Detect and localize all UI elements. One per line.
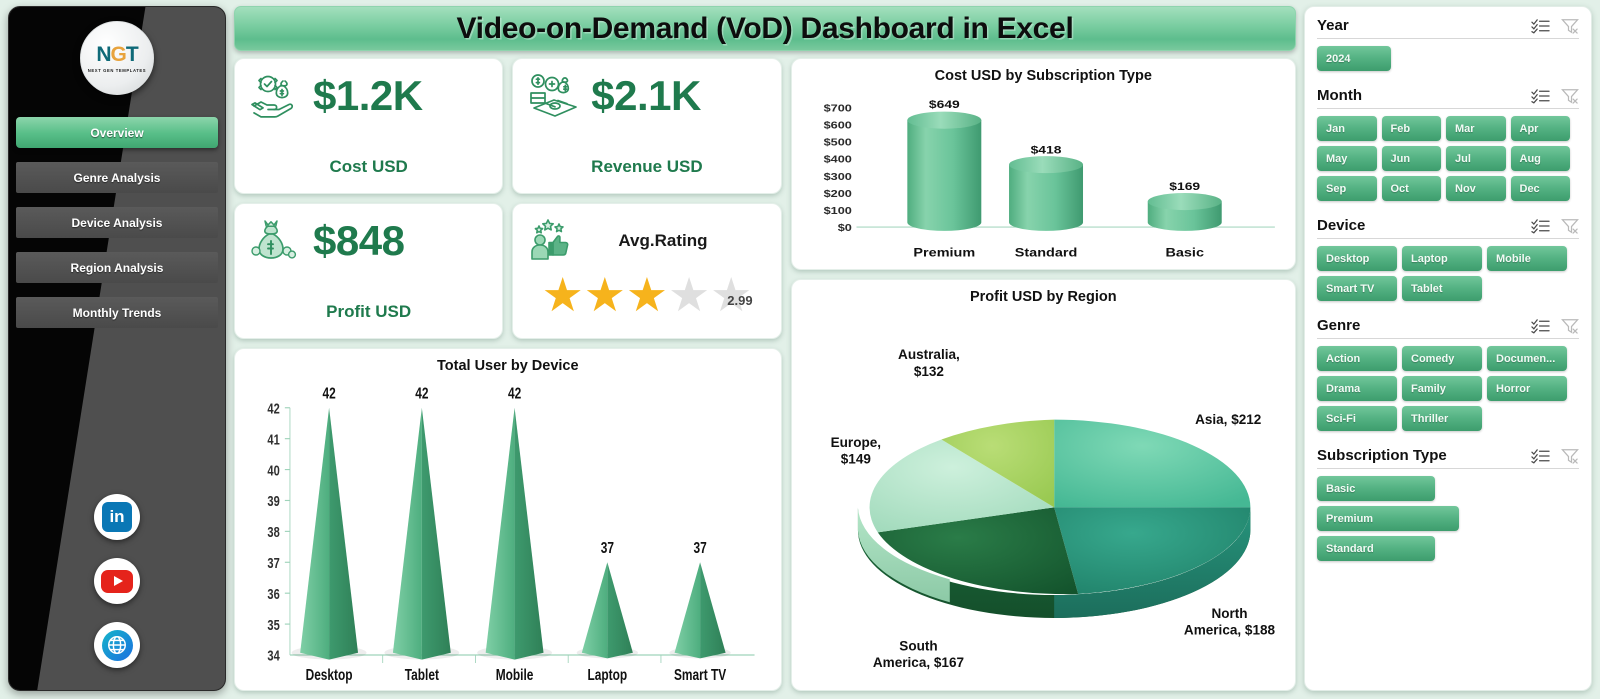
- svg-text:38: 38: [267, 524, 279, 541]
- slicer-chip-device-smart-tv[interactable]: Smart TV: [1317, 276, 1397, 301]
- svg-text:America, $167: America, $167: [872, 655, 963, 670]
- slicer-chip-year-2024[interactable]: 2024: [1317, 46, 1391, 71]
- svg-text:$400: $400: [823, 154, 851, 166]
- slicer-chip-genre-drama[interactable]: Drama: [1317, 376, 1397, 401]
- youtube-button[interactable]: [94, 558, 140, 604]
- pie-label-europe: Europe,: [830, 435, 880, 450]
- svg-text:41: 41: [267, 431, 279, 448]
- pie-label-asia: Asia, $212: [1195, 412, 1261, 427]
- pie-slice-asia: [1054, 420, 1250, 508]
- clear-filter-icon[interactable]: [1561, 318, 1579, 334]
- svg-text:35: 35: [267, 616, 279, 633]
- multi-select-icon[interactable]: [1531, 318, 1550, 334]
- slicer-title-device: Device: [1317, 217, 1531, 234]
- svg-text:Smart TV: Smart TV: [674, 666, 727, 684]
- sidebar-item-region-analysis[interactable]: Region Analysis: [16, 252, 218, 283]
- bar-label-basic: $169: [1169, 181, 1200, 194]
- slicer-chip-genre-family[interactable]: Family: [1402, 376, 1482, 401]
- slicer-chip-month-oct[interactable]: Oct: [1382, 176, 1442, 201]
- dashboard-title-banner: Video-on-Demand (VoD) Dashboard in Excel: [234, 6, 1296, 51]
- money-stack-icon: [527, 71, 581, 121]
- kpi-value-revenue: $2.1K: [591, 72, 701, 120]
- svg-text:America, $188: America, $188: [1183, 623, 1275, 638]
- money-bag-icon: [249, 216, 303, 266]
- website-button[interactable]: [94, 622, 140, 668]
- svg-text:36: 36: [267, 586, 279, 603]
- slicer-year: Year: [1317, 17, 1579, 71]
- kpi-card-cost: $1.2K Cost USD: [234, 58, 503, 194]
- svg-text:39: 39: [267, 493, 279, 510]
- main-content: Video-on-Demand (VoD) Dashboard in Excel: [234, 6, 1296, 691]
- cylinder-basic: [1147, 193, 1221, 231]
- svg-text:Desktop: Desktop: [306, 666, 353, 684]
- slicer-chip-month-dec[interactable]: Dec: [1511, 176, 1571, 201]
- clear-filter-icon[interactable]: [1561, 18, 1579, 34]
- bar-label-laptop: 37: [601, 539, 614, 557]
- svg-text:$0: $0: [837, 222, 851, 234]
- svg-text:$100: $100: [823, 205, 851, 217]
- svg-text:42: 42: [267, 400, 279, 417]
- sidebar-item-monthly-trends[interactable]: Monthly Trends: [16, 297, 218, 328]
- chart-card-cost-by-subscription: Cost USD by Subscription Type: [791, 58, 1296, 270]
- svg-text:$200: $200: [823, 188, 851, 200]
- slicer-chip-subscription-basic[interactable]: Basic: [1317, 476, 1435, 501]
- slicer-chip-subscription-standard[interactable]: Standard: [1317, 536, 1435, 561]
- slicer-chip-month-jan[interactable]: Jan: [1317, 116, 1377, 141]
- sidebar-item-label: Genre Analysis: [74, 171, 161, 185]
- user-thumbsup-stars-icon: [527, 216, 581, 266]
- pie-label-south-america: South: [899, 639, 937, 654]
- svg-text:37: 37: [267, 555, 279, 572]
- slicer-subscription-type: Subscription Type: [1317, 447, 1579, 561]
- svg-text:$300: $300: [823, 171, 851, 183]
- svg-text:Tablet: Tablet: [405, 666, 439, 684]
- chart-title-profit-by-region: Profit USD by Region: [801, 287, 1286, 309]
- svg-text:Mobile: Mobile: [496, 666, 534, 684]
- multi-select-icon[interactable]: [1531, 88, 1550, 104]
- kpi-label-revenue: Revenue USD: [527, 157, 766, 181]
- star-filled-3: ★: [626, 271, 668, 318]
- slicer-items-genre: Action Comedy Documen... Drama Family Ho…: [1317, 346, 1579, 431]
- sidebar: NGT NEXT GEN TEMPLATES Overview Genre An…: [8, 6, 226, 691]
- cylinder-standard: [1009, 156, 1083, 231]
- slicer-items-month: Jan Feb Mar Apr May Jun Jul Aug Sep Oct …: [1317, 116, 1579, 201]
- kpi-card-revenue: $2.1K Revenue USD: [512, 58, 781, 194]
- linkedin-icon: in: [102, 502, 132, 532]
- svg-text:Standard: Standard: [1014, 246, 1077, 259]
- sidebar-item-genre-analysis[interactable]: Genre Analysis: [16, 162, 218, 193]
- chart-title-cost-by-subscription: Cost USD by Subscription Type: [801, 66, 1286, 88]
- svg-text:$149: $149: [840, 452, 871, 467]
- svg-text:Basic: Basic: [1165, 246, 1204, 259]
- svg-text:$600: $600: [823, 120, 851, 132]
- kpi-label-profit: Profit USD: [249, 302, 488, 326]
- slicer-chip-month-jul[interactable]: Jul: [1446, 146, 1506, 171]
- svg-text:34: 34: [267, 647, 280, 664]
- bar-label-standard: $418: [1030, 144, 1061, 157]
- slicer-chip-genre-documentary[interactable]: Documen...: [1487, 346, 1567, 371]
- slicer-title-month: Month: [1317, 87, 1531, 104]
- slicer-chip-genre-comedy[interactable]: Comedy: [1402, 346, 1482, 371]
- social-links: in: [94, 494, 140, 668]
- clear-filter-icon[interactable]: [1561, 218, 1579, 234]
- slicer-chip-device-tablet[interactable]: Tablet: [1402, 276, 1482, 301]
- bar-label-premium: $649: [928, 98, 959, 111]
- chart-card-total-user-by-device: Total User by Device: [234, 348, 782, 691]
- kpi-card-avg-rating: Avg.Rating ★ ★ ★ ★ ★ 2.99: [512, 203, 781, 339]
- chart-plot-cost-by-subscription: $700$600$500 $400$300$200 $100$0: [801, 88, 1286, 264]
- svg-text:$500: $500: [823, 137, 851, 149]
- rating-title: Avg.Rating: [589, 231, 766, 251]
- bar-label-mobile: 42: [508, 384, 521, 402]
- slicer-title-genre: Genre: [1317, 317, 1531, 334]
- slicer-chip-genre-sci-fi[interactable]: Sci-Fi: [1317, 406, 1397, 431]
- linkedin-button[interactable]: in: [94, 494, 140, 540]
- youtube-icon: [101, 570, 133, 593]
- dashboard-root: NGT NEXT GEN TEMPLATES Overview Genre An…: [0, 0, 1600, 699]
- svg-text:Premium: Premium: [913, 246, 975, 259]
- slicer-chip-device-desktop[interactable]: Desktop: [1317, 246, 1397, 271]
- slicer-chip-genre-thriller[interactable]: Thriller: [1402, 406, 1482, 431]
- slicer-chip-month-apr[interactable]: Apr: [1511, 116, 1571, 141]
- sidebar-item-label: Device Analysis: [72, 216, 163, 230]
- hand-money-badge-icon: [249, 71, 303, 121]
- slicer-chip-device-mobile[interactable]: Mobile: [1487, 246, 1567, 271]
- multi-select-icon[interactable]: [1531, 448, 1550, 464]
- sidebar-item-device-analysis[interactable]: Device Analysis: [16, 207, 218, 238]
- cylinder-premium: [907, 112, 981, 231]
- pie-label-north-america: North: [1211, 606, 1247, 621]
- page-title: Video-on-Demand (VoD) Dashboard in Excel: [457, 12, 1074, 46]
- pie-label-australia: Australia,: [898, 347, 960, 362]
- sidebar-item-overview[interactable]: Overview: [16, 117, 218, 148]
- slicer-chip-device-laptop[interactable]: Laptop: [1402, 246, 1482, 271]
- slicer-chip-subscription-premium[interactable]: Premium: [1317, 506, 1459, 531]
- slicer-items-device: Desktop Laptop Mobile Smart TV Tablet: [1317, 246, 1579, 301]
- slicer-month: Month: [1317, 87, 1579, 201]
- bar-label-tablet: 42: [415, 384, 428, 402]
- svg-text:$132: $132: [913, 364, 943, 379]
- chart-plot-profit-by-region: Australia, $132 Asia, $212 Europe, $149 …: [801, 309, 1286, 685]
- slicer-chip-month-nov[interactable]: Nov: [1446, 176, 1506, 201]
- chart-card-profit-by-region: Profit USD by Region: [791, 279, 1296, 691]
- star-filled-1: ★: [542, 271, 584, 318]
- slicer-chip-genre-horror[interactable]: Horror: [1487, 376, 1567, 401]
- clear-filter-icon[interactable]: [1561, 88, 1579, 104]
- slicer-genre: Genre: [1317, 317, 1579, 431]
- sidebar-item-label: Region Analysis: [71, 261, 164, 275]
- slicer-chip-month-mar[interactable]: Mar: [1446, 116, 1506, 141]
- sidebar-nav: Overview Genre Analysis Device Analysis …: [9, 117, 225, 328]
- chart-plot-total-user-by-device: 424140 393837 363534: [244, 378, 772, 685]
- slicer-chip-month-aug[interactable]: Aug: [1511, 146, 1571, 171]
- star-filled-2: ★: [584, 271, 626, 318]
- logo: NGT NEXT GEN TEMPLATES: [80, 21, 154, 95]
- kpi-value-profit: $848: [313, 217, 404, 265]
- rating-value: 2.99: [727, 293, 752, 308]
- bar-label-smarttv: 37: [693, 539, 706, 557]
- slicer-device: Device: [1317, 217, 1579, 301]
- slicer-chip-genre-action[interactable]: Action: [1317, 346, 1397, 371]
- svg-text:$700: $700: [823, 103, 851, 115]
- slicer-chip-month-feb[interactable]: Feb: [1382, 116, 1442, 141]
- sidebar-item-label: Overview: [90, 126, 143, 140]
- kpi-label-cost: Cost USD: [249, 157, 488, 181]
- svg-text:40: 40: [267, 462, 279, 479]
- slicer-chip-month-may[interactable]: May: [1317, 146, 1377, 171]
- logo-text: NGT: [96, 44, 137, 65]
- slicer-panel: Year: [1304, 6, 1592, 691]
- sidebar-item-label: Monthly Trends: [73, 306, 162, 320]
- kpi-value-cost: $1.2K: [313, 72, 423, 120]
- rating-stars: ★ ★ ★ ★ ★ 2.99: [527, 271, 766, 326]
- slicer-items-year: 2024: [1317, 46, 1579, 71]
- slicer-title-year: Year: [1317, 17, 1531, 34]
- kpi-card-profit: $848 Profit USD: [234, 203, 503, 339]
- pie-slice-north-america: [1054, 508, 1250, 595]
- clear-filter-icon[interactable]: [1561, 448, 1579, 464]
- slicer-chip-month-sep[interactable]: Sep: [1317, 176, 1377, 201]
- bar-label-desktop: 42: [322, 384, 335, 402]
- logo-subtitle: NEXT GEN TEMPLATES: [88, 68, 146, 73]
- star-empty-4: ★: [668, 271, 710, 318]
- multi-select-icon[interactable]: [1531, 218, 1550, 234]
- svg-text:Laptop: Laptop: [587, 666, 627, 684]
- slicer-title-subscription-type: Subscription Type: [1317, 447, 1531, 464]
- globe-icon: [102, 630, 133, 661]
- chart-title-total-user-by-device: Total User by Device: [244, 356, 772, 378]
- multi-select-icon[interactable]: [1531, 18, 1550, 34]
- slicer-items-subscription-type: Basic Premium Standard: [1317, 476, 1579, 561]
- slicer-chip-month-jun[interactable]: Jun: [1382, 146, 1442, 171]
